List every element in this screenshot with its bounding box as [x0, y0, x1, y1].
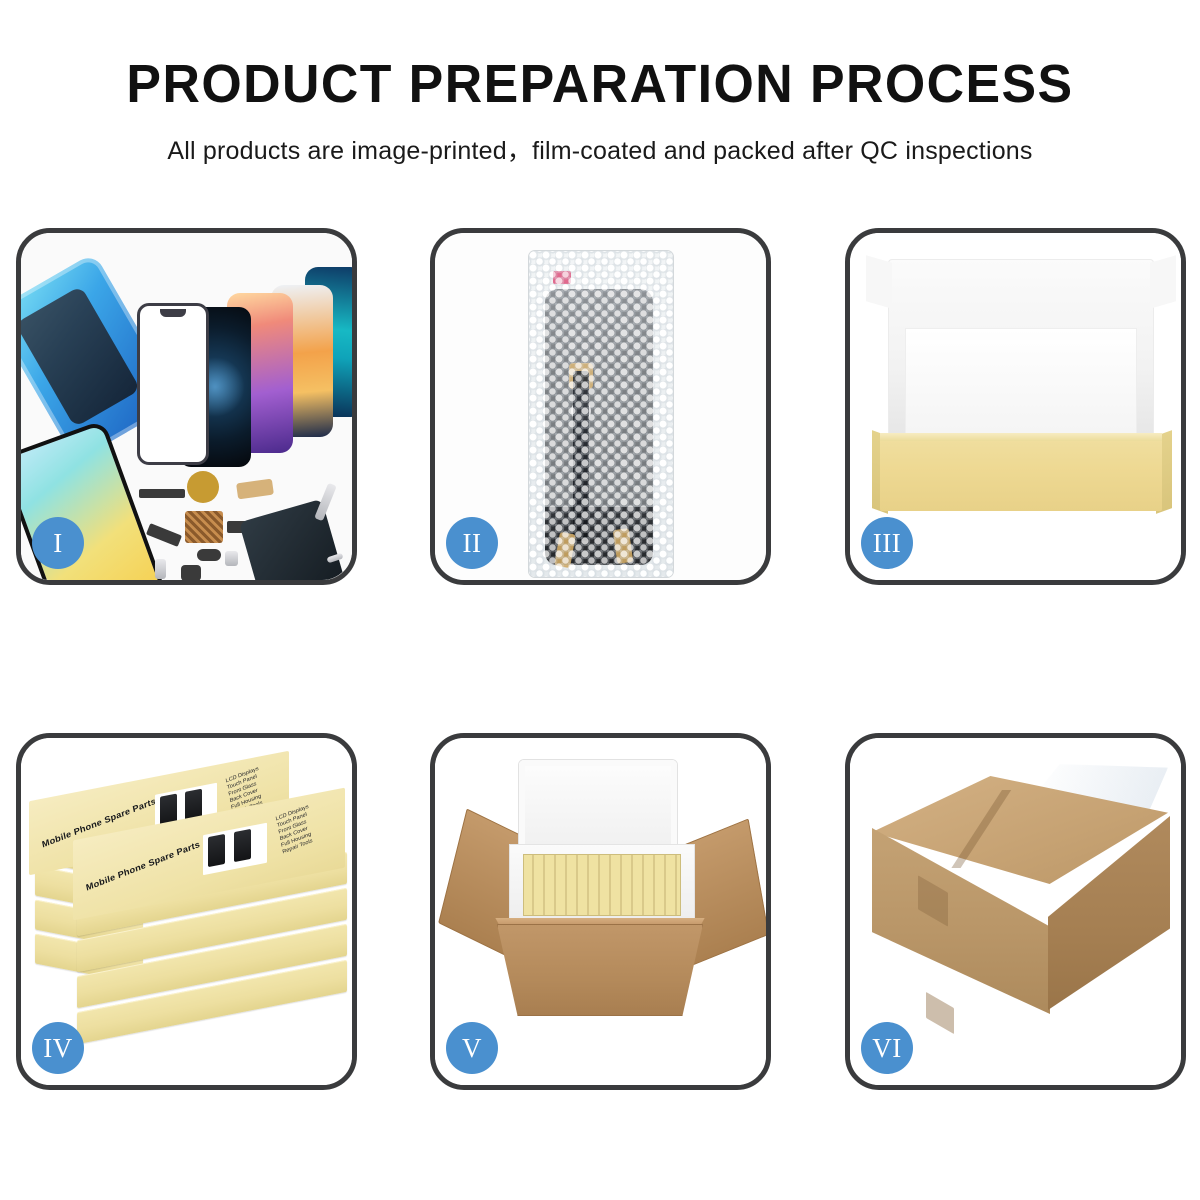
bubble-wrap-bag: [529, 251, 673, 577]
part-receiver-icon: [197, 549, 221, 561]
carton-body-icon: [497, 924, 703, 1016]
step-badge-2: II: [446, 517, 498, 569]
step-badge-3: III: [861, 517, 913, 569]
step-badge-4: IV: [32, 1022, 84, 1074]
page-title: PRODUCT PREPARATION PROCESS: [24, 56, 1176, 113]
process-step-grid: I II: [0, 228, 1200, 1098]
part-sim-tray-icon: [225, 551, 238, 566]
foam-sheet-icon: [906, 329, 1136, 441]
process-step-panel-5[interactable]: V: [430, 733, 771, 1090]
box-window-image: [203, 823, 267, 875]
part-taptic-icon: [181, 565, 201, 580]
process-step-panel-4[interactable]: Mobile Phone Spare Parts LCD Displays To…: [16, 733, 357, 1090]
box-brand-label: Mobile Phone Spare Parts: [85, 839, 201, 893]
part-back-housing-icon: [239, 499, 345, 580]
page-header: PRODUCT PREPARATION PROCESS All products…: [0, 56, 1200, 167]
process-step-panel-1[interactable]: I: [16, 228, 357, 585]
step-badge-1: I: [32, 517, 84, 569]
part-button-flex-icon: [146, 523, 182, 547]
box-front-panel-icon: [880, 433, 1162, 511]
packed-boxes-icon: [523, 854, 681, 916]
box-feature-list: LCD Displays Touch Panel Front Glass Bac…: [275, 804, 316, 856]
qc-label-icon: [553, 271, 571, 284]
process-step-panel-2[interactable]: II: [430, 228, 771, 585]
foam-container-icon: [509, 844, 695, 926]
part-vibrator-icon: [187, 471, 219, 503]
part-speaker-icon: [139, 489, 185, 498]
process-step-panel-6[interactable]: VI: [845, 733, 1186, 1090]
step-badge-6: VI: [861, 1022, 913, 1074]
part-shield-mesh-icon: [185, 511, 223, 543]
phone-front-glass-icon: [137, 303, 209, 465]
step-badge-5: V: [446, 1022, 498, 1074]
page-subtitle: All products are image-printed，film-coat…: [0, 131, 1200, 167]
part-flex-cable-icon: [236, 479, 274, 500]
process-step-panel-3[interactable]: III: [845, 228, 1186, 585]
part-sim-pin-icon: [155, 559, 166, 579]
carton-tape-lower-icon: [926, 992, 954, 1034]
